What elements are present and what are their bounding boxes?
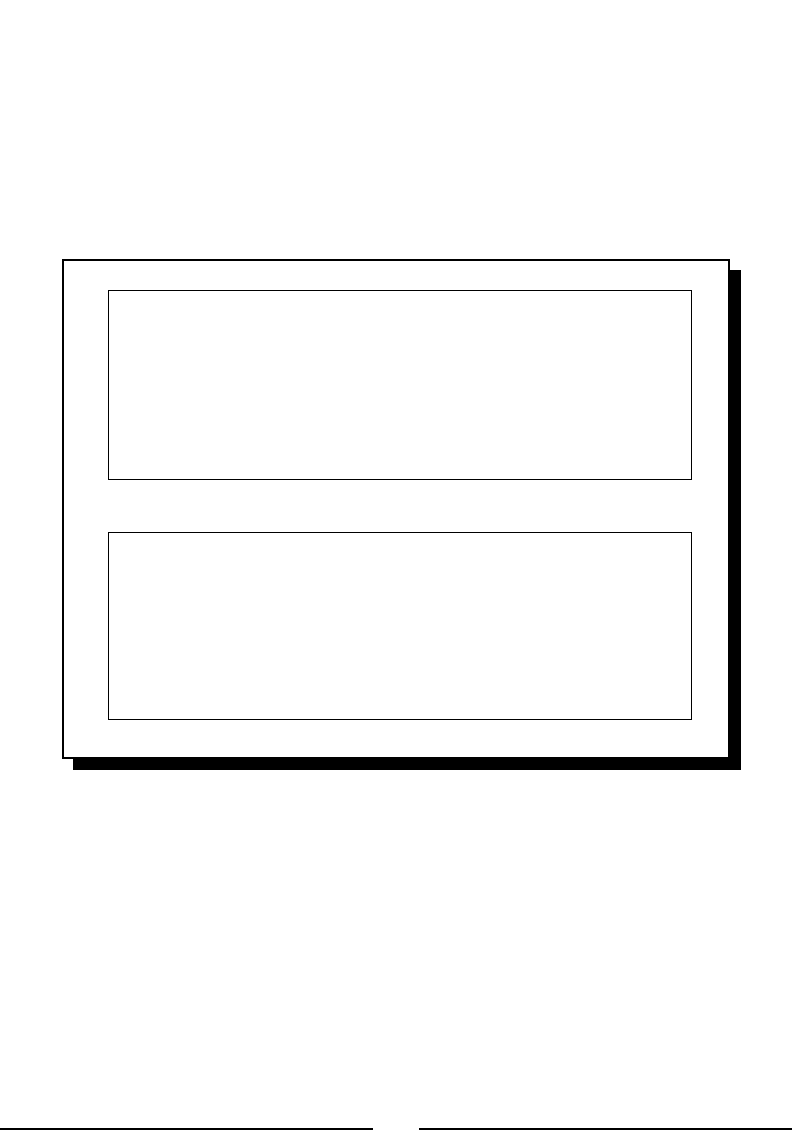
plot-original-audio-signal (64, 261, 728, 511)
bottom-rule-left (0, 1128, 373, 1130)
axes-original (108, 290, 692, 480)
waveform-repeated (109, 533, 691, 719)
plot-repeated-4-times (64, 503, 728, 761)
figure-card (62, 259, 730, 759)
waveform-original (109, 291, 691, 479)
axes-inner-original (109, 291, 691, 479)
axes-repeated (108, 532, 692, 720)
bottom-rule-right (419, 1128, 792, 1130)
axes-inner-repeated (109, 533, 691, 719)
